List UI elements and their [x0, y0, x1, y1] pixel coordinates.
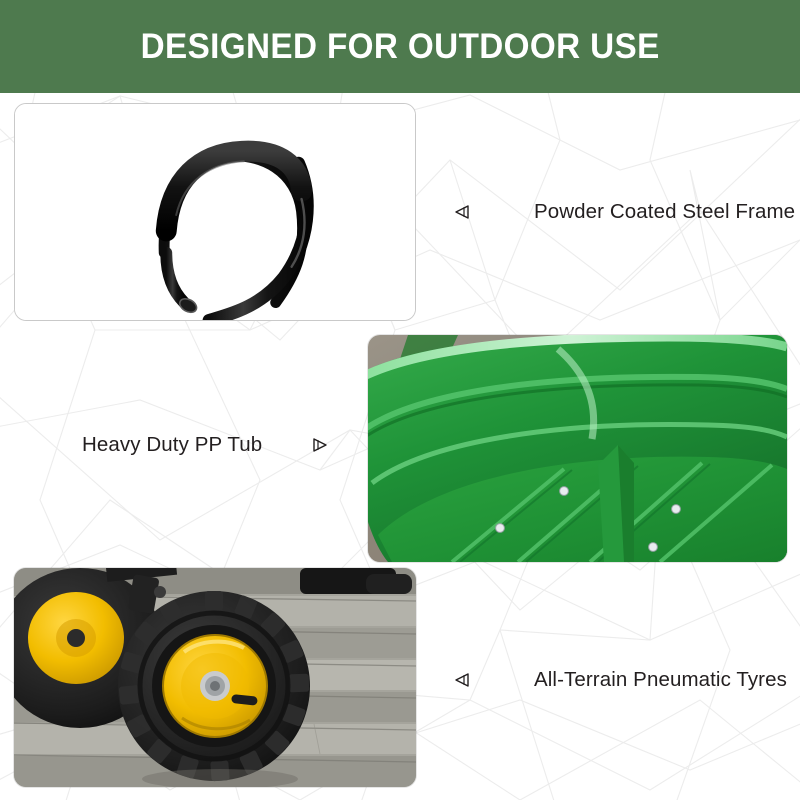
triangle-right-icon	[310, 436, 330, 454]
feature-heavy-duty-pp-tub: Heavy Duty PP Tub	[82, 433, 330, 457]
tub-photo-card	[368, 335, 787, 562]
handle-photo-card	[14, 103, 416, 321]
header-banner: DESIGNED FOR OUTDOOR USE	[0, 0, 800, 93]
feature-label: Heavy Duty PP Tub	[82, 433, 262, 457]
triangle-left-icon	[452, 671, 472, 689]
product-feature-infographic: DESIGNED FOR OUTDOOR USE	[0, 0, 800, 800]
tyre-photo-card	[14, 568, 416, 787]
feature-label: All-Terrain Pneumatic Tyres	[534, 668, 787, 692]
feature-label: Powder Coated Steel Frame	[534, 200, 795, 224]
tyre-photo	[14, 568, 416, 787]
tub-photo	[368, 335, 787, 562]
feature-powder-coated-steel-frame: Powder Coated Steel Frame	[452, 200, 795, 224]
triangle-left-icon	[452, 203, 472, 221]
feature-all-terrain-pneumatic-tyres: All-Terrain Pneumatic Tyres	[452, 668, 787, 692]
handle-photo	[15, 104, 415, 320]
page-title: DESIGNED FOR OUTDOOR USE	[141, 29, 660, 64]
